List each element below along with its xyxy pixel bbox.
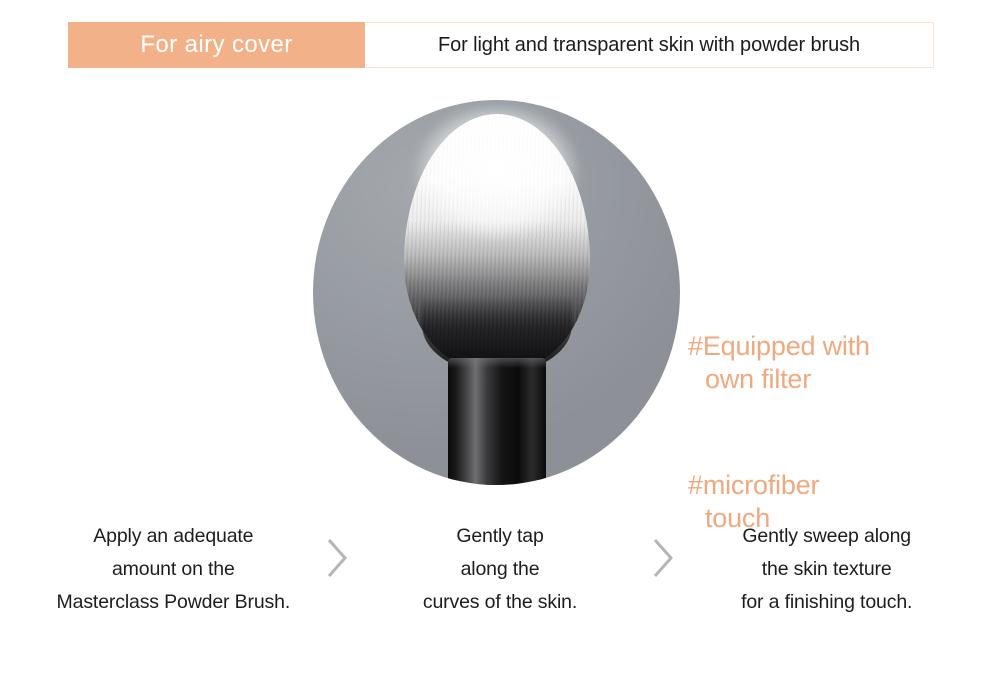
usage-step-line: along the — [367, 553, 634, 586]
usage-step-line: Gently tap — [367, 520, 634, 553]
powder-brush-photo — [313, 100, 680, 485]
brush-handle — [448, 358, 546, 485]
header-description-block: For light and transparent skin with powd… — [365, 22, 934, 68]
chevron-right-icon — [633, 520, 693, 580]
usage-step-line: Gently sweep along — [693, 520, 960, 553]
usage-step-line: curves of the skin. — [367, 586, 634, 619]
usage-step-line: Masterclass Powder Brush. — [40, 586, 307, 619]
usage-step-line: the skin texture — [693, 553, 960, 586]
hero-section: #Equipped with own filter #microfiber to… — [0, 90, 1000, 500]
usage-step: Apply an adequate amount on the Mastercl… — [40, 520, 307, 619]
usage-step: Gently sweep along the skin texture for … — [693, 520, 960, 619]
hashtag-item-first-line: #Equipped with — [688, 331, 870, 361]
header-description-label: For light and transparent skin with powd… — [438, 35, 860, 55]
header-tag-label: For airy cover — [140, 33, 292, 57]
chevron-right-icon — [307, 520, 367, 580]
product-photo-circle — [313, 100, 680, 485]
header-tag-block: For airy cover — [68, 22, 365, 68]
usage-step: Gently tap along the curves of the skin. — [367, 520, 634, 619]
hashtag-item-first-line: #microfiber — [688, 470, 819, 500]
usage-step-line: for a finishing touch. — [693, 586, 960, 619]
usage-steps: Apply an adequate amount on the Mastercl… — [40, 520, 960, 619]
header-banner: For airy cover For light and transparent… — [68, 22, 934, 68]
hashtag-item-second-line: own filter — [688, 363, 938, 396]
usage-step-line: Apply an adequate — [40, 520, 307, 553]
hashtag-item: #Equipped with own filter — [688, 297, 938, 429]
usage-step-line: amount on the — [40, 553, 307, 586]
